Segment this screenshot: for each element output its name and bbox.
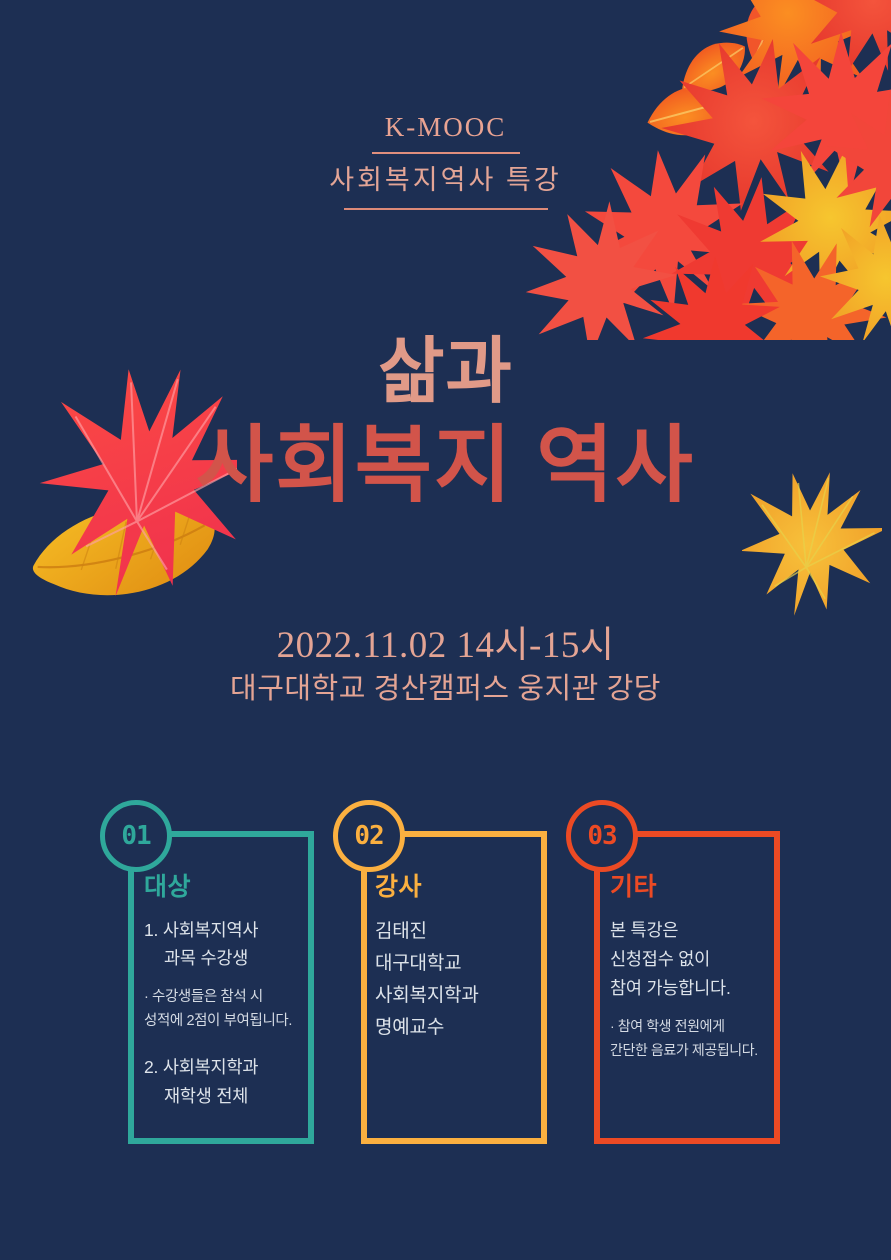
card-line: 본 특강은 <box>610 916 780 945</box>
poster-title: 삶과 사회복지 역사 <box>0 336 891 514</box>
card-number-badge: 03 <box>566 800 638 872</box>
card-spacer <box>144 1033 314 1053</box>
card-line: 과목 수강생 <box>144 944 314 972</box>
info-card-group: 01 대상 1. 사회복지역사 과목 수강생 · 수강생들은 참석 시 성적에 … <box>100 800 800 1150</box>
poster-canvas: K-MOOC 사회복지역사 특강 삶과 사회복지 역사 2022.11.02 1… <box>0 0 891 1260</box>
info-card-03: 03 기타 본 특강은 신청접수 없이 참여 가능합니다. · 참여 학생 전원… <box>566 800 798 1148</box>
card-line: 사회복지학과 <box>375 980 545 1012</box>
event-venue: 대구대학교 경산캠퍼스 웅지관 강당 <box>0 671 891 707</box>
card-number: 03 <box>587 821 616 851</box>
card-note: · 수강생들은 참석 시 <box>144 985 314 1009</box>
card-line: 2. 사회복지학과 <box>144 1053 314 1081</box>
info-card-01: 01 대상 1. 사회복지역사 과목 수강생 · 수강생들은 참석 시 성적에 … <box>100 800 332 1148</box>
card-number-badge: 01 <box>100 800 172 872</box>
title-line-1: 삶과 <box>0 336 891 408</box>
card-content: 기타 본 특강은 신청접수 없이 참여 가능합니다. · 참여 학생 전원에게 … <box>610 872 780 1062</box>
card-spacer <box>144 973 314 985</box>
card-spacer <box>610 1003 780 1015</box>
schedule-block: 2022.11.02 14시-15시 대구대학교 경산캠퍼스 웅지관 강당 <box>0 626 891 707</box>
card-line: 대구대학교 <box>375 948 545 980</box>
card-note: 간단한 음료가 제공됩니다. <box>610 1039 780 1063</box>
card-heading: 대상 <box>144 872 314 902</box>
card-line: 명예교수 <box>375 1012 545 1044</box>
card-note: · 참여 학생 전원에게 <box>610 1015 780 1039</box>
title-line-2: 사회복지 역사 <box>0 420 891 514</box>
info-card-02: 02 강사 김태진 대구대학교 사회복지학과 명예교수 <box>333 800 565 1148</box>
card-note: 성적에 2점이 부여됩니다. <box>144 1009 314 1033</box>
card-content: 대상 1. 사회복지역사 과목 수강생 · 수강생들은 참석 시 성적에 2점이… <box>144 872 314 1110</box>
card-number-badge: 02 <box>333 800 405 872</box>
card-number: 02 <box>354 821 383 851</box>
card-heading: 강사 <box>375 872 545 902</box>
card-line: 재학생 전체 <box>144 1082 314 1110</box>
program-subtitle: 사회복지역사 특강 <box>0 164 891 196</box>
card-heading: 기타 <box>610 872 780 902</box>
card-number: 01 <box>121 821 150 851</box>
card-line: 참여 가능합니다. <box>610 974 780 1003</box>
card-line: 신청접수 없이 <box>610 945 780 974</box>
header-divider-top <box>372 152 520 154</box>
poster-header: K-MOOC 사회복지역사 특강 <box>0 112 891 210</box>
card-line: 1. 사회복지역사 <box>144 916 314 944</box>
event-date: 2022.11.02 14시-15시 <box>0 626 891 667</box>
header-divider-bottom <box>344 208 548 211</box>
card-content: 강사 김태진 대구대학교 사회복지학과 명예교수 <box>375 872 545 1044</box>
card-line: 김태진 <box>375 916 545 948</box>
program-label: K-MOOC <box>0 112 891 143</box>
